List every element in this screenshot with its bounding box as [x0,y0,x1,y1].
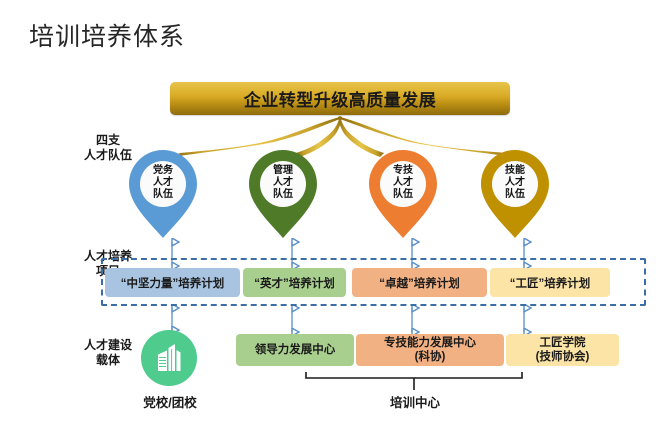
program-label: “英才”培养计划 [254,275,335,291]
talent-team-label: 技能 人才 队伍 [477,165,553,201]
carrier-box-leadership-center[interactable]: 领导力发展中心 [236,334,354,366]
training-center-bracket [306,372,522,390]
row-label-carriers: 人才建设 载体 [66,338,150,368]
carrier-label: 领导力发展中心 [255,343,336,357]
talent-team-label: 党务 人才 队伍 [125,165,201,201]
top-banner-label: 企业转型升级高质量发展 [170,86,510,111]
talent-team-label: 管理 人才 队伍 [245,165,321,201]
program-box-yingcai[interactable]: “英才”培养计划 [243,268,346,297]
carrier-label: 工匠学院 (技师协会) [536,336,590,364]
slide-canvas: 培训培养体系 企业转型升级高质量发展 [0,0,664,432]
carrier-party-school-icon-circle[interactable] [141,330,197,386]
talent-team-pin-skilled[interactable]: 技能 人才 队伍 [477,148,553,240]
carrier-party-school-label: 党校/团校 [110,392,230,411]
talent-team-pin-party[interactable]: 党务 人才 队伍 [125,148,201,240]
arrow-connectors-programs-to-carriers [172,308,524,332]
page-title: 培训培养体系 [29,17,185,53]
ribbon-connector [172,116,514,157]
talent-team-pin-management[interactable]: 管理 人才 队伍 [245,148,321,240]
building-icon [152,341,186,375]
program-box-zhongjianliliang[interactable]: “中坚力量”培养计划 [105,268,240,297]
program-box-gongjiang[interactable]: “工匠”培养计划 [490,268,610,297]
training-center-bracket-label: 培训中心 [355,392,475,411]
program-box-zhuoyue[interactable]: “卓越”培养计划 [352,268,487,297]
program-label: “中坚力量”培养计划 [121,275,225,291]
carrier-box-craftsman-academy[interactable]: 工匠学院 (技师协会) [506,334,619,366]
program-label: “工匠”培养计划 [510,275,591,291]
top-banner[interactable]: 企业转型升级高质量发展 [170,82,510,115]
carrier-box-technical-center[interactable]: 专技能力发展中心 (科协) [356,334,504,366]
talent-team-label: 专技 人才 队伍 [365,165,441,201]
carrier-label: 专技能力发展中心 (科协) [384,336,476,364]
talent-team-pin-technical[interactable]: 专技 人才 队伍 [365,148,441,240]
program-label: “卓越”培养计划 [379,275,460,291]
